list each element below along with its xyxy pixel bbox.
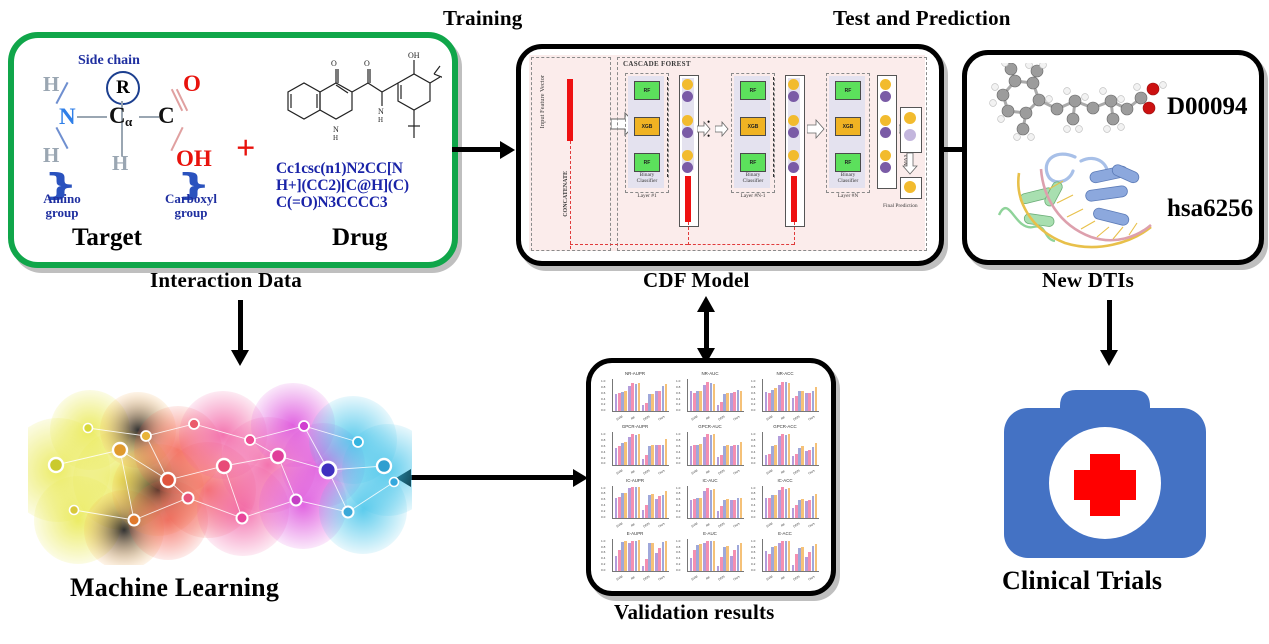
- validation-x-axis: SVMRFDNNOurs: [612, 523, 669, 527]
- carboxyl-group-label-line1: Carboxyl: [165, 191, 217, 206]
- validation-bar: [651, 543, 654, 571]
- validation-y-tick: 0.4: [676, 450, 680, 454]
- validation-bar-group: [730, 539, 742, 571]
- validation-y-tick: 0.6: [676, 391, 680, 395]
- layerN1-class-dot-pos-1: [788, 79, 799, 90]
- validation-bar-group: [792, 379, 804, 411]
- arrow-ml-validation-line: [410, 475, 580, 480]
- validation-y-tick: 1.0: [676, 486, 680, 490]
- validation-bar: [665, 541, 668, 571]
- validation-y-tick: 0.4: [751, 397, 755, 401]
- validation-bar: [774, 445, 777, 464]
- validation-x-axis: SVMRFDNNOurs: [687, 470, 744, 474]
- layer1-class-dot-pos-1: [682, 79, 693, 90]
- validation-x-tick: RF: [780, 469, 786, 475]
- validation-x-tick: RF: [780, 415, 786, 421]
- layer1-dashed-connector: [667, 77, 668, 177]
- layerN-class-dot-pos-1: [880, 79, 891, 90]
- validation-chart-title: NR-AUC: [674, 371, 746, 376]
- validation-y-tick: 0.0: [601, 408, 605, 412]
- validation-chart-11: E-AUC1.00.80.60.40.20.0SVMRFDNNOurs: [674, 531, 746, 581]
- validation-plot-area: [687, 379, 744, 412]
- layerN-binary-classifier-label: Binary Classifier: [832, 172, 864, 184]
- layerN-bc-line2: Classifier: [838, 178, 859, 184]
- validation-bar: [638, 540, 641, 571]
- validation-y-tick: 0.6: [751, 497, 755, 501]
- layer1-class-dot-neg-2: [682, 127, 693, 138]
- validation-plot-area: [687, 539, 744, 572]
- validation-x-tick: Ours: [808, 575, 816, 582]
- layerN1-concat-bar: [791, 176, 797, 222]
- layerN-estimator-xgb: XGB: [835, 117, 861, 136]
- validation-x-tick: DNN: [643, 468, 651, 475]
- validation-chart-title: GPCR-AUPR: [599, 424, 671, 429]
- validation-bar: [713, 541, 716, 571]
- validation-bar-group: [765, 539, 777, 571]
- drug-smiles-text: Cc1csc(n1)N2CC[N H+](CC2)[C@H](C) C(=O)N…: [276, 160, 446, 211]
- validation-y-tick: 0.6: [751, 444, 755, 448]
- validation-x-tick: SVM: [765, 415, 773, 422]
- validation-bar: [740, 442, 743, 465]
- validation-x-tick: SVM: [615, 415, 623, 422]
- validation-x-tick: RF: [705, 415, 711, 421]
- validation-plot-area: [612, 432, 669, 465]
- layerN1-name-label: Layer #N-1: [735, 193, 771, 199]
- validation-y-tick: 0.4: [676, 397, 680, 401]
- validation-y-tick: 0.2: [751, 562, 755, 566]
- validation-bar: [815, 443, 818, 465]
- carboxyl-group-label-line2: group: [175, 205, 208, 220]
- interaction-data-panel: Side chain R H H N C α C H O OH } } Amin…: [8, 32, 458, 268]
- validation-bar: [713, 489, 716, 518]
- validation-bar-group: [615, 486, 627, 518]
- validation-bar: [624, 541, 627, 571]
- validation-y-tick: 0.2: [676, 562, 680, 566]
- amino-group-label-line1: Amino: [43, 191, 81, 206]
- validation-y-axis: 1.00.80.60.40.20.0: [676, 432, 680, 465]
- validation-plot-area: [612, 379, 669, 412]
- validation-y-tick: 0.4: [601, 503, 605, 507]
- layerN1-estimator-xgb: XGB: [740, 117, 766, 136]
- validation-chart-9: IC-ACC1.00.80.60.40.20.0SVMRFDNNOurs: [749, 478, 821, 528]
- validation-x-tick: RF: [705, 575, 711, 581]
- validation-bar-group: [615, 432, 627, 464]
- alpha-subscript: α: [125, 114, 132, 130]
- validation-y-axis: 1.00.80.60.40.20.0: [601, 486, 605, 519]
- validation-y-tick: 0.6: [601, 444, 605, 448]
- hydrogen-bottom-left: H: [43, 143, 59, 168]
- validation-y-tick: 0.0: [751, 515, 755, 519]
- validation-chart-8: IC-AUC1.00.80.60.40.20.0SVMRFDNNOurs: [674, 478, 746, 528]
- layer1-bc-line2: Classifier: [637, 178, 658, 184]
- validation-x-tick: Ours: [658, 468, 666, 475]
- layerN-class-dot-neg-2: [880, 127, 891, 138]
- drug-structure-image: O O N H N H OH: [272, 48, 442, 163]
- validation-bar-group: [730, 486, 742, 518]
- nitrogen-atom: N: [59, 104, 76, 130]
- validation-x-tick: RF: [705, 522, 711, 528]
- validation-x-axis: SVMRFDNNOurs: [762, 416, 819, 420]
- validation-bar-group: [765, 486, 777, 518]
- validation-bar-group: [615, 539, 627, 571]
- validation-bar-group: [778, 379, 790, 411]
- oxygen-atom: O: [183, 71, 201, 97]
- validation-bar-group: [778, 432, 790, 464]
- validation-bar: [788, 434, 791, 464]
- validation-x-tick: Ours: [658, 415, 666, 422]
- validation-x-axis: SVMRFDNNOurs: [612, 576, 669, 580]
- validation-y-axis: 1.00.80.60.40.20.0: [751, 379, 755, 412]
- validation-y-tick: 0.0: [676, 461, 680, 465]
- layer1-name-label: Layer #1: [631, 193, 663, 199]
- validation-bar: [651, 445, 654, 465]
- validation-results-caption: Validation results: [614, 600, 775, 625]
- validation-plot-area: [612, 539, 669, 572]
- new-dtis-caption: New DTIs: [1042, 268, 1134, 293]
- validation-y-tick: 1.0: [751, 379, 755, 383]
- validation-bar: [788, 383, 791, 411]
- validation-x-tick: Ours: [808, 468, 816, 475]
- input-feature-vector-label: Input Feature Vector: [539, 75, 546, 128]
- validation-x-tick: Ours: [733, 575, 741, 582]
- validation-x-tick: Ours: [733, 415, 741, 422]
- validation-bar-group: [730, 379, 742, 411]
- validation-x-axis: SVMRFDNNOurs: [687, 576, 744, 580]
- validation-y-tick: 1.0: [601, 539, 605, 543]
- smiles-line-1: Cc1csc(n1)N2CC[N: [276, 160, 403, 177]
- arrow-dtis-to-trials-line: [1107, 300, 1112, 354]
- validation-plot-area: [687, 486, 744, 519]
- layer1-class-dot-neg-1: [682, 91, 693, 102]
- validation-bar: [726, 445, 729, 464]
- validation-x-axis: SVMRFDNNOurs: [762, 470, 819, 474]
- validation-bar-group: [628, 486, 640, 518]
- validation-y-tick: 0.4: [751, 503, 755, 507]
- dti-target-id: hsa6256: [1167, 195, 1253, 223]
- layerN-estimator-rf-2: RF: [835, 153, 861, 172]
- validation-bar: [740, 498, 743, 518]
- layerN1-dashed-connector: [773, 77, 774, 177]
- validation-y-tick: 0.8: [751, 385, 755, 389]
- layerN-estimator-rf-1: RF: [835, 81, 861, 100]
- validation-x-axis: SVMRFDNNOurs: [612, 470, 669, 474]
- validation-x-axis: SVMRFDNNOurs: [612, 416, 669, 420]
- hydrogen-top-left: H: [43, 72, 59, 97]
- validation-y-axis: 1.00.80.60.40.20.0: [601, 539, 605, 572]
- validation-chart-title: NR-ACC: [749, 371, 821, 376]
- validation-bar-group: [690, 486, 702, 518]
- validation-bar-group: [778, 486, 790, 518]
- interaction-data-caption: Interaction Data: [150, 268, 302, 293]
- svg-text:N: N: [378, 107, 384, 116]
- validation-plot-area: [612, 486, 669, 519]
- validation-bar: [801, 391, 804, 411]
- layerN1-estimator-rf-2: RF: [740, 153, 766, 172]
- validation-x-tick: DNN: [718, 575, 726, 582]
- validation-chart-2: NR-AUC1.00.80.60.40.20.0SVMRFDNNOurs: [674, 371, 746, 421]
- amino-acid-diagram: Side chain R H H N C α C H O OH } } Amin…: [28, 48, 253, 238]
- validation-y-axis: 1.00.80.60.40.20.0: [751, 539, 755, 572]
- validation-y-tick: 1.0: [601, 486, 605, 490]
- validation-x-tick: Ours: [658, 521, 666, 528]
- validation-y-axis: 1.00.80.60.40.20.0: [676, 486, 680, 519]
- validation-y-tick: 1.0: [751, 432, 755, 436]
- validation-bar: [665, 439, 668, 465]
- validation-bar: [638, 434, 641, 464]
- alpha-carbon-atom: C: [109, 103, 126, 129]
- cascade-forest-title: CASCADE FOREST: [623, 60, 691, 68]
- validation-x-tick: DNN: [793, 415, 801, 422]
- validation-bar: [665, 491, 668, 517]
- validation-bar-group: [792, 539, 804, 571]
- validation-chart-title: IC-AUPR: [599, 478, 671, 483]
- validation-y-tick: 0.8: [751, 491, 755, 495]
- validation-y-tick: 0.6: [676, 497, 680, 501]
- validation-plot-area: [762, 432, 819, 465]
- validation-bar-group: [690, 539, 702, 571]
- validation-charts-grid: NR-AUPR1.00.80.60.40.20.0SVMRFDNNOursNR-…: [599, 371, 821, 581]
- machine-learning-caption: Machine Learning: [70, 573, 279, 603]
- validation-x-tick: SVM: [615, 575, 623, 582]
- layer1-estimator-xgb: XGB: [634, 117, 660, 136]
- validation-y-axis: 1.00.80.60.40.20.0: [601, 432, 605, 465]
- validation-y-tick: 1.0: [601, 379, 605, 383]
- validation-y-tick: 0.8: [601, 385, 605, 389]
- validation-y-tick: 0.8: [601, 491, 605, 495]
- layer1-concat-bar: [685, 176, 691, 222]
- validation-y-tick: 0.6: [601, 497, 605, 501]
- validation-x-tick: SVM: [690, 468, 698, 475]
- layerN-class-dot-pos-3: [880, 150, 891, 161]
- validation-y-tick: 0.6: [676, 550, 680, 554]
- validation-y-tick: 0.8: [676, 491, 680, 495]
- carbonyl-carbon-atom: C: [158, 103, 175, 129]
- hydrogen-bottom-mid: H: [112, 151, 128, 176]
- layerN1-to-layerN-arrow-icon: [807, 119, 825, 139]
- validation-bar: [638, 487, 641, 518]
- svg-text:N: N: [333, 125, 339, 134]
- validation-x-tick: DNN: [793, 468, 801, 475]
- layer1-binary-classifier-label: Binary Classifier: [631, 172, 663, 184]
- svg-text:O: O: [331, 59, 337, 68]
- dti-drug-id: D00094: [1167, 93, 1248, 121]
- validation-y-tick: 0.0: [676, 568, 680, 572]
- layerN-class-dot-neg-3: [880, 162, 891, 173]
- validation-y-axis: 1.00.80.60.40.20.0: [751, 432, 755, 465]
- validation-chart-4: GPCR-AUPR1.00.80.60.40.20.0SVMRFDNNOurs: [599, 424, 671, 474]
- layerN1-feedback-line: [794, 222, 795, 245]
- validation-x-tick: SVM: [690, 521, 698, 528]
- validation-y-tick: 1.0: [601, 432, 605, 436]
- validation-y-tick: 0.2: [676, 402, 680, 406]
- validation-y-tick: 0.2: [601, 562, 605, 566]
- validation-chart-5: GPCR-AUC1.00.80.60.40.20.0SVMRFDNNOurs: [674, 424, 746, 474]
- validation-chart-title: E-AUC: [674, 531, 746, 536]
- medical-kit-icon: [960, 378, 1250, 568]
- validation-bar-group: [642, 379, 654, 411]
- validation-y-axis: 1.00.80.60.40.20.0: [751, 486, 755, 519]
- svg-text:O: O: [364, 59, 370, 68]
- validation-x-axis: SVMRFDNNOurs: [762, 523, 819, 527]
- validation-x-axis: SVMRFDNNOurs: [762, 576, 819, 580]
- validation-bar-group: [690, 379, 702, 411]
- validation-x-tick: DNN: [793, 575, 801, 582]
- validation-results-panel: NR-AUPR1.00.80.60.40.20.0SVMRFDNNOursNR-…: [586, 358, 836, 596]
- validation-bar-group: [642, 432, 654, 464]
- validation-bar-group: [655, 379, 667, 411]
- amino-group-label: Amino group: [31, 192, 93, 220]
- ellipsis-arrow-right-icon: [715, 121, 729, 137]
- amino-group-label-line2: group: [46, 205, 79, 220]
- validation-bar: [699, 444, 702, 465]
- layerN1-class-dot-neg-2: [788, 127, 799, 138]
- validation-chart-title: GPCR-ACC: [749, 424, 821, 429]
- validation-chart-10: E-AUPR1.00.80.60.40.20.0SVMRFDNNOurs: [599, 531, 671, 581]
- validation-y-tick: 0.4: [676, 556, 680, 560]
- validation-bar: [638, 383, 641, 411]
- layer1-estimator-rf-2: RF: [634, 153, 660, 172]
- layerN1-class-dot-neg-1: [788, 91, 799, 102]
- validation-y-tick: 1.0: [676, 539, 680, 543]
- validation-bar: [801, 446, 804, 464]
- validation-bar-group: [655, 432, 667, 464]
- validation-bar-group: [615, 379, 627, 411]
- final-prediction-label: Final Prediction: [883, 203, 918, 209]
- validation-x-tick: SVM: [690, 415, 698, 422]
- max-label: MAX: [904, 154, 909, 166]
- validation-chart-title: IC-AUC: [674, 478, 746, 483]
- concatenate-label: CONCATENATE: [563, 171, 569, 217]
- clinical-trials-caption: Clinical Trials: [1002, 566, 1162, 596]
- machine-learning-image: [28, 370, 412, 565]
- validation-x-tick: RF: [630, 415, 636, 421]
- validation-x-tick: DNN: [643, 521, 651, 528]
- validation-chart-title: GPCR-AUC: [674, 424, 746, 429]
- arrow-interaction-to-cdf-head: [500, 141, 515, 159]
- validation-y-axis: 1.00.80.60.40.20.0: [601, 379, 605, 412]
- validation-y-tick: 0.0: [601, 461, 605, 465]
- validation-plot-area: [687, 432, 744, 465]
- validation-y-tick: 0.0: [751, 408, 755, 412]
- validation-x-tick: SVM: [765, 521, 773, 528]
- validation-x-axis: SVMRFDNNOurs: [687, 416, 744, 420]
- validation-y-tick: 0.8: [676, 545, 680, 549]
- validation-y-tick: 1.0: [751, 486, 755, 490]
- validation-bar: [801, 547, 804, 572]
- validation-y-tick: 0.0: [601, 515, 605, 519]
- layerN1-class-dot-pos-3: [788, 150, 799, 161]
- feedback-horizontal-1: [570, 244, 688, 245]
- validation-y-tick: 0.4: [751, 556, 755, 560]
- validation-plot-area: [762, 379, 819, 412]
- validation-bar: [815, 494, 818, 518]
- validation-y-tick: 0.2: [751, 402, 755, 406]
- cdf-model-caption: CDF Model: [643, 268, 750, 293]
- protein-structure-image: [985, 143, 1171, 253]
- validation-bar: [726, 393, 729, 412]
- validation-x-tick: DNN: [643, 415, 651, 422]
- r-group-circle: R: [106, 71, 140, 105]
- layer1-feedback-line: [688, 222, 689, 245]
- validation-x-tick: DNN: [718, 415, 726, 422]
- arrow-interaction-to-ml-head: [231, 350, 249, 366]
- validation-y-tick: 0.0: [676, 515, 680, 519]
- arrow-dtis-to-trials-head: [1100, 350, 1118, 366]
- validation-x-tick: DNN: [643, 575, 651, 582]
- validation-bar: [801, 499, 804, 518]
- stage-label-training: Training: [443, 6, 522, 31]
- validation-y-tick: 0.2: [601, 509, 605, 513]
- validation-bar: [699, 544, 702, 571]
- validation-bar-group: [792, 486, 804, 518]
- validation-bar-group: [805, 486, 817, 518]
- bond-calpha-to-c: [139, 116, 159, 118]
- validation-x-tick: RF: [705, 469, 711, 475]
- drug-molecule-3d-image: [981, 63, 1171, 145]
- validation-y-tick: 0.0: [751, 568, 755, 572]
- validation-chart-1: NR-AUPR1.00.80.60.40.20.0SVMRFDNNOurs: [599, 371, 671, 421]
- validation-chart-title: NR-AUPR: [599, 371, 671, 376]
- validation-y-tick: 0.2: [601, 402, 605, 406]
- validation-y-tick: 0.8: [751, 438, 755, 442]
- validation-bar: [624, 442, 627, 465]
- validation-bar-group: [717, 432, 729, 464]
- layer1-class-dot-neg-3: [682, 162, 693, 173]
- validation-x-tick: Ours: [808, 521, 816, 528]
- validation-bar: [651, 394, 654, 412]
- validation-y-tick: 0.4: [676, 503, 680, 507]
- validation-bar-group: [655, 486, 667, 518]
- smiles-line-3: C(=O)N3CCCC3: [276, 194, 387, 211]
- validation-bar: [774, 495, 777, 518]
- validation-bar-group: [703, 432, 715, 464]
- validation-bar: [740, 543, 743, 571]
- concatenate-feedback-line: [570, 141, 571, 249]
- validation-x-tick: DNN: [718, 468, 726, 475]
- validation-x-tick: SVM: [690, 575, 698, 582]
- validation-x-tick: DNN: [718, 521, 726, 528]
- validation-y-axis: 1.00.80.60.40.20.0: [676, 379, 680, 412]
- validation-chart-title: E-AUPR: [599, 531, 671, 536]
- validation-y-tick: 0.0: [751, 461, 755, 465]
- validation-bar: [815, 387, 818, 412]
- validation-x-tick: Ours: [733, 521, 741, 528]
- layerN-class-dot-neg-1: [880, 91, 891, 102]
- validation-y-tick: 1.0: [676, 379, 680, 383]
- validation-bar: [665, 384, 668, 411]
- validation-x-tick: Ours: [733, 468, 741, 475]
- validation-y-tick: 0.8: [676, 385, 680, 389]
- validation-y-tick: 0.2: [751, 456, 755, 460]
- validation-bar: [774, 388, 777, 411]
- validation-x-tick: SVM: [765, 468, 773, 475]
- validation-y-tick: 1.0: [676, 432, 680, 436]
- validation-x-tick: SVM: [765, 575, 773, 582]
- svg-text:H: H: [333, 134, 338, 142]
- validation-bar-group: [778, 539, 790, 571]
- validation-y-tick: 0.6: [751, 391, 755, 395]
- validation-chart-6: GPCR-ACC1.00.80.60.40.20.0SVMRFDNNOurs: [749, 424, 821, 474]
- stage-label-test-prediction: Test and Prediction: [833, 6, 1011, 31]
- feedback-horizontal-2: [688, 244, 794, 245]
- bond-n-to-calpha: [77, 116, 107, 118]
- validation-x-tick: DNN: [793, 521, 801, 528]
- validation-bar-group: [765, 379, 777, 411]
- validation-bar: [699, 498, 702, 518]
- validation-bar: [699, 391, 702, 411]
- layerN-class-dot-pos-2: [880, 115, 891, 126]
- layerN-name-label: Layer #N: [831, 193, 865, 199]
